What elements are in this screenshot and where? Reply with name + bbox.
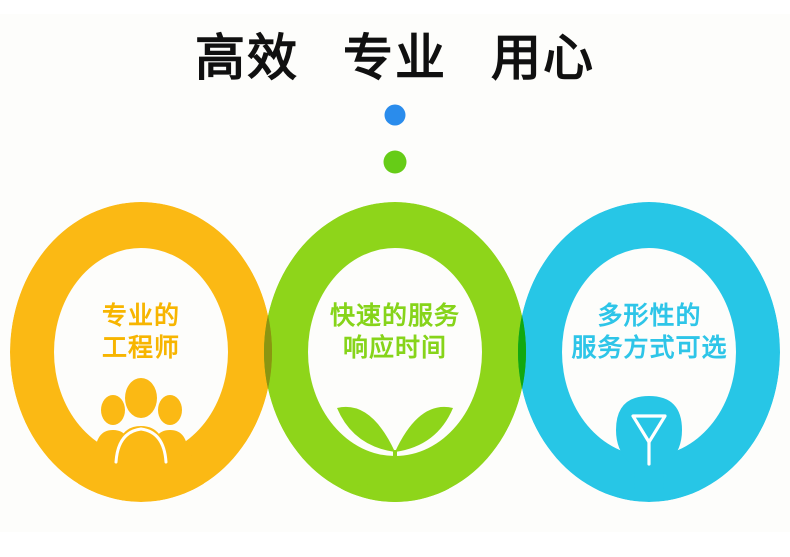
- blue-node-icon: [385, 105, 406, 126]
- connector-ornament: [0, 98, 790, 210]
- top-edge-band: [0, 0, 790, 14]
- page-title: 高效专业用心: [0, 28, 790, 88]
- green-node-icon: [384, 151, 407, 174]
- bottom-edge-band: [0, 532, 790, 557]
- headline-word-1: 高效: [195, 28, 299, 88]
- headline-word-3: 用心: [491, 28, 595, 88]
- headline-word-2: 专业: [343, 28, 447, 88]
- poster-canvas: 高效专业用心: [0, 0, 790, 557]
- venn-rings-group: [0, 200, 790, 510]
